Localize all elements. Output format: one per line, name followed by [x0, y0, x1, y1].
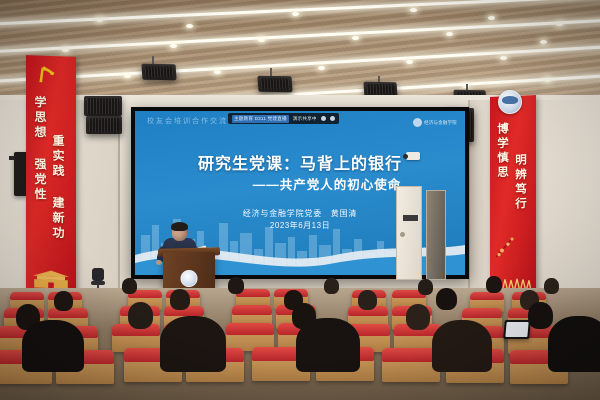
cpc-emblem-icon: [34, 61, 60, 88]
door-knob[interactable]: [400, 232, 405, 237]
left-red-banner: 学思想 强党性 重实践 建新功: [26, 55, 76, 297]
attendee-head: [170, 289, 190, 310]
share-icon[interactable]: [330, 116, 335, 121]
attendee-head: [418, 279, 433, 295]
broadcast-toolbar[interactable]: 主题教育 D311 党建直播 演示共享中: [228, 113, 339, 124]
attendee-silhouette: [22, 320, 84, 372]
attendee-silhouette: [432, 320, 492, 372]
attendee-head: [528, 302, 553, 329]
speaker-hair: [171, 222, 188, 231]
lecture-hall-photo: 学思想 强党性 重实践 建新功 博学慎思 明辨笃行: [0, 0, 600, 400]
university-seal-icon: [498, 90, 522, 114]
podium-seal-icon: [181, 270, 198, 287]
attendee-head: [406, 304, 430, 330]
plum-blossom-icon: [492, 230, 524, 263]
attendee-head: [324, 278, 339, 294]
attendee-head: [436, 288, 457, 310]
attendee-head: [122, 278, 137, 294]
wall-speaker-bracket: [9, 156, 15, 160]
toolbar-chip-primary[interactable]: 主题教育 D311 党建直播: [232, 115, 289, 123]
attendee-head: [544, 278, 559, 294]
attendee-head: [228, 277, 244, 294]
left-banner-line2: 重实践 建新功: [50, 134, 67, 242]
attendee-laptop: [503, 320, 531, 339]
slide-institution-logo: 经济与金融学院: [413, 118, 457, 127]
mic-icon[interactable]: [321, 116, 326, 121]
right-red-banner: 博学慎思 明辨笃行: [490, 95, 536, 303]
security-camera-icon: [406, 152, 420, 160]
institution-mark-icon: [413, 118, 422, 127]
door-sign: [402, 214, 419, 222]
open-doorway: [426, 190, 446, 280]
speaker-stack-top: [84, 96, 122, 116]
attendee-silhouette: [160, 316, 226, 372]
left-banner-line1: 学思想 强党性: [32, 95, 49, 203]
attendee-silhouette: [548, 316, 600, 372]
right-banner-line2: 明辨笃行: [512, 153, 528, 212]
attendee-silhouette: [296, 318, 360, 372]
speaker-stack-mid: [86, 116, 122, 134]
attendee-head: [486, 276, 502, 293]
toolbar-chip-secondary: 演示共享中: [293, 116, 317, 122]
attendee-head: [128, 302, 153, 329]
attendee-head: [54, 291, 73, 311]
attendee-head: [358, 290, 377, 310]
right-banner-line1: 博学慎思: [494, 122, 510, 181]
slide-logo-text: 经济与金融学院: [424, 120, 457, 126]
speaker-left-hand: [156, 260, 162, 265]
